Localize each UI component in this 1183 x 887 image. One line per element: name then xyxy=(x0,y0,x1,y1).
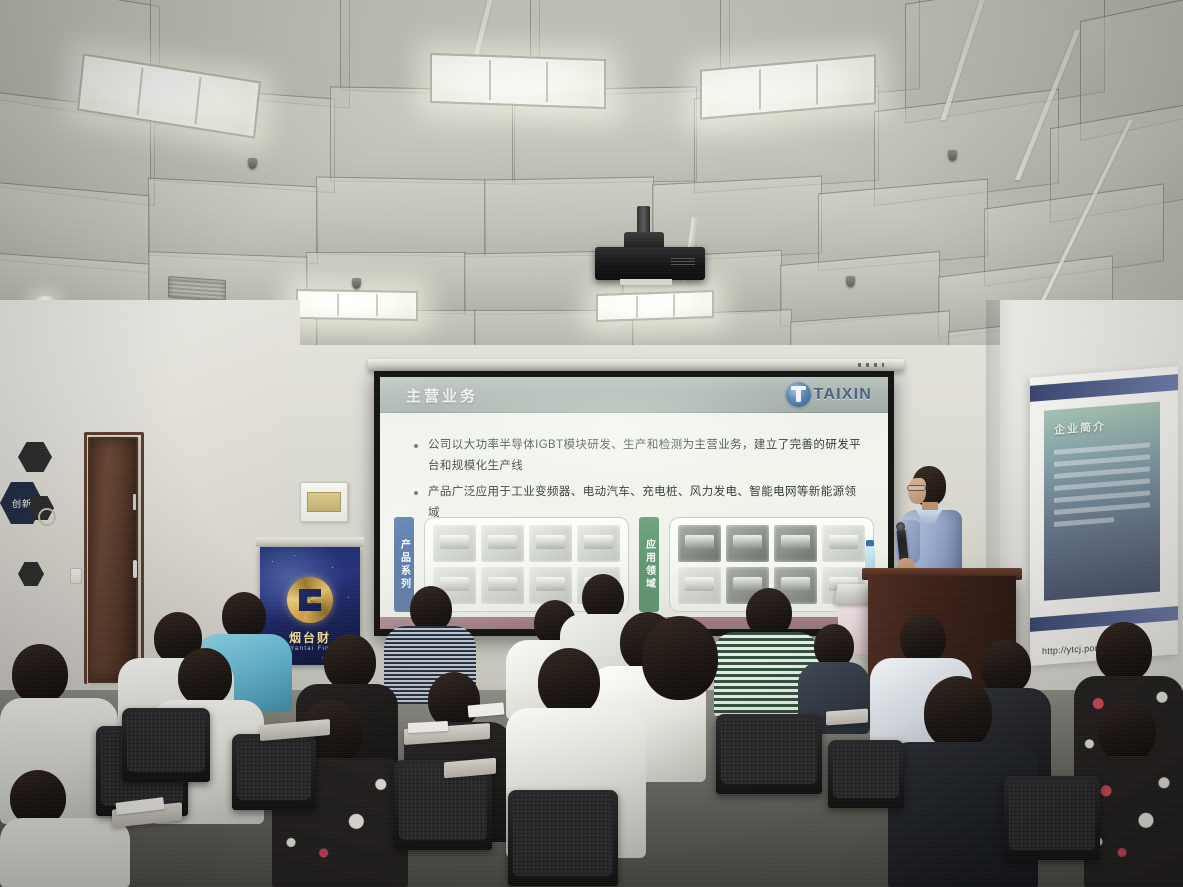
sprinkler-head xyxy=(846,276,855,287)
chair-mesh-back xyxy=(237,739,311,800)
roll-up-banner-rail xyxy=(256,537,364,547)
hexagon-ring-decal xyxy=(38,508,56,526)
screen-housing-vents xyxy=(858,363,884,367)
chair-mesh-back xyxy=(833,745,899,798)
office-chair[interactable] xyxy=(508,790,618,886)
chair-mesh-back xyxy=(1009,781,1095,850)
sprinkler-head xyxy=(948,150,957,161)
office-chair[interactable] xyxy=(232,734,316,810)
presenter-face xyxy=(908,478,926,504)
product-thumb xyxy=(481,567,524,604)
chair-mesh-back xyxy=(721,719,817,784)
projector xyxy=(595,247,705,280)
writing-tablet xyxy=(826,709,868,726)
wall-poster: 企业简介 http://ytcj.portal xyxy=(1030,366,1178,666)
slide-bullet: 公司以大功率半导体IGBT模块研发、生产和检测为主营业务，建立了完善的研发平台和… xyxy=(414,435,866,478)
handout-paper xyxy=(408,721,448,733)
poster-text-panel: 企业简介 xyxy=(1044,402,1160,601)
chair-mesh-back xyxy=(513,795,613,876)
office-chair[interactable] xyxy=(828,740,904,808)
office-chair[interactable] xyxy=(122,708,210,782)
framed-certificate xyxy=(300,482,348,522)
taixin-logo: TAIXIN xyxy=(786,382,872,407)
product-thumb xyxy=(481,525,524,562)
door-hinge xyxy=(133,494,136,510)
taixin-wordmark: TAIXIN xyxy=(814,386,872,404)
office-chair[interactable] xyxy=(716,714,822,794)
conference-room-photo: 创新 主营业务 TAIXIN 公司以大功率半导体IGBT模块研发、生产和检测为主… xyxy=(0,0,1183,887)
ceiling-light-panel xyxy=(596,290,714,322)
ceiling-light-panel xyxy=(296,289,418,321)
poster-body-lines xyxy=(1054,442,1150,590)
application-thumb xyxy=(726,525,769,562)
projector-base xyxy=(620,279,672,285)
certificate-inner xyxy=(307,492,341,512)
ceiling-light-panel xyxy=(430,53,606,109)
product-thumb xyxy=(529,525,572,562)
glasses-icon xyxy=(907,485,926,491)
projection-screen-housing xyxy=(368,359,904,371)
office-chair[interactable] xyxy=(1004,776,1100,860)
application-thumb xyxy=(822,525,865,562)
chair-mesh-back xyxy=(399,765,487,840)
sprinkler-head xyxy=(248,158,257,169)
poster-heading: 企业简介 xyxy=(1054,418,1106,438)
door-handle[interactable] xyxy=(133,560,137,578)
chair-mesh-back xyxy=(127,713,205,772)
yantai-logo-icon xyxy=(287,577,333,623)
air-vent xyxy=(168,276,226,302)
application-thumb xyxy=(678,525,721,562)
sprinkler-head xyxy=(352,278,361,289)
poster-top-bar xyxy=(1030,374,1178,402)
product-thumb xyxy=(433,525,476,562)
slide-title: 主营业务 xyxy=(406,385,478,406)
taixin-mark-icon xyxy=(786,382,811,407)
application-thumb xyxy=(774,525,817,562)
wall-light-switch[interactable] xyxy=(70,568,82,584)
product-thumb xyxy=(577,525,620,562)
